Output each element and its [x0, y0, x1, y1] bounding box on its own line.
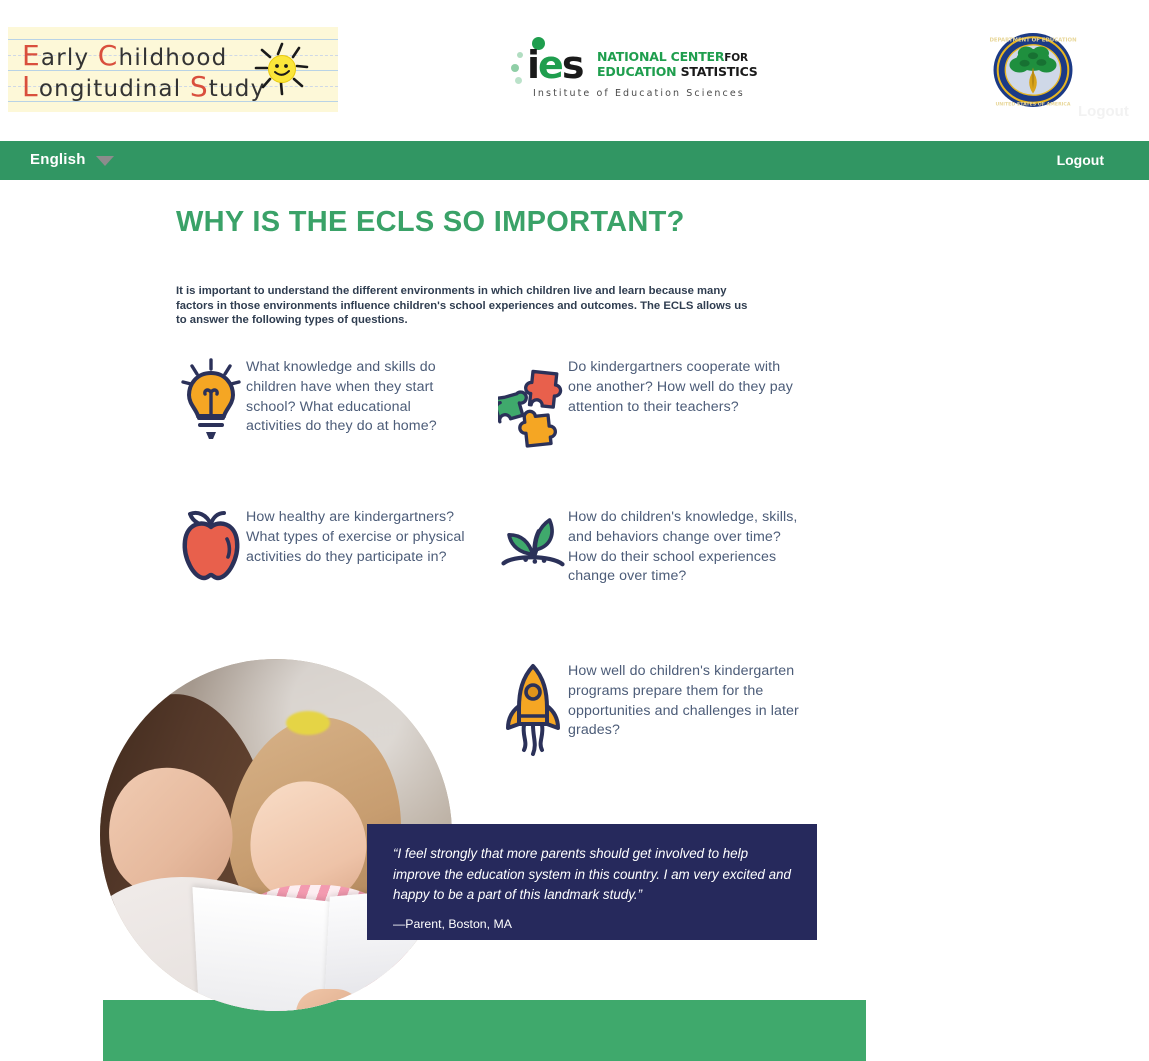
svg-text:UNITED STATES OF AMERICA: UNITED STATES OF AMERICA: [995, 101, 1070, 107]
language-selector[interactable]: English: [30, 151, 114, 168]
rocket-icon: [498, 662, 568, 762]
parent-quote-card: “I feel strongly that more parents shoul…: [367, 824, 817, 940]
ies-subtitle: Institute of Education Sciences: [533, 88, 745, 99]
ecls-logo-line2: Longitudinal Study: [22, 70, 265, 103]
question-text: How healthy are kindergartners? What typ…: [246, 508, 476, 567]
top-navbar: English Logout: [0, 141, 1149, 180]
page-title: WHY IS THE ECLS SO IMPORTANT?: [176, 205, 736, 240]
intro-paragraph: It is important to understand the differ…: [176, 284, 748, 327]
question-text: How do children's knowledge, skills, and…: [568, 508, 808, 587]
puzzle-pieces-icon: [498, 358, 568, 458]
question-item-knowledge-skills: What knowledge and skills do children ha…: [176, 358, 466, 444]
nces-line-1: NATIONAL CENTERFOR: [597, 49, 748, 64]
ies-wordmark: ies: [527, 46, 582, 84]
sun-doodle-icon: [254, 41, 310, 97]
sprout-icon: [498, 508, 568, 580]
question-item-cooperation: Do kindergartners cooperate with one ano…: [498, 358, 798, 458]
chevron-down-icon: [96, 156, 114, 166]
department-of-education-seal-icon: DEPARTMENT OF EDUCATION UNITED STATES OF…: [983, 28, 1083, 112]
logout-button[interactable]: Logout: [1057, 152, 1104, 168]
apple-icon: [176, 508, 246, 582]
question-text: How well do children's kindergarten prog…: [568, 662, 808, 741]
quote-attribution: —Parent, Boston, MA: [393, 917, 793, 931]
ghost-logout-watermark: Logout: [1078, 103, 1129, 120]
ecls-logo-line1: Early Childhood: [22, 39, 227, 72]
question-text: Do kindergartners cooperate with one ano…: [568, 358, 798, 417]
ecls-logo[interactable]: Early Childhood Longitudinal Study: [8, 27, 338, 112]
question-text: What knowledge and skills do children ha…: [246, 358, 466, 437]
question-item-change-over-time: How do children's knowledge, skills, and…: [498, 508, 808, 587]
question-item-preparation: How well do children's kindergarten prog…: [498, 662, 808, 762]
nces-line-2: EDUCATION STATISTICS: [597, 64, 758, 79]
photo-child-hair-bow: [286, 711, 330, 735]
language-selector-label: English: [30, 151, 86, 168]
ies-nces-logo[interactable]: ies NATIONAL CENTERFOR EDUCATION STATIST…: [505, 32, 735, 114]
svg-text:DEPARTMENT OF EDUCATION: DEPARTMENT OF EDUCATION: [989, 37, 1076, 43]
question-item-health: How healthy are kindergartners? What typ…: [176, 508, 476, 582]
page-header: Early Childhood Longitudinal Study: [0, 0, 1149, 140]
lightbulb-icon: [176, 358, 246, 444]
quote-text: “I feel strongly that more parents shoul…: [393, 844, 793, 906]
